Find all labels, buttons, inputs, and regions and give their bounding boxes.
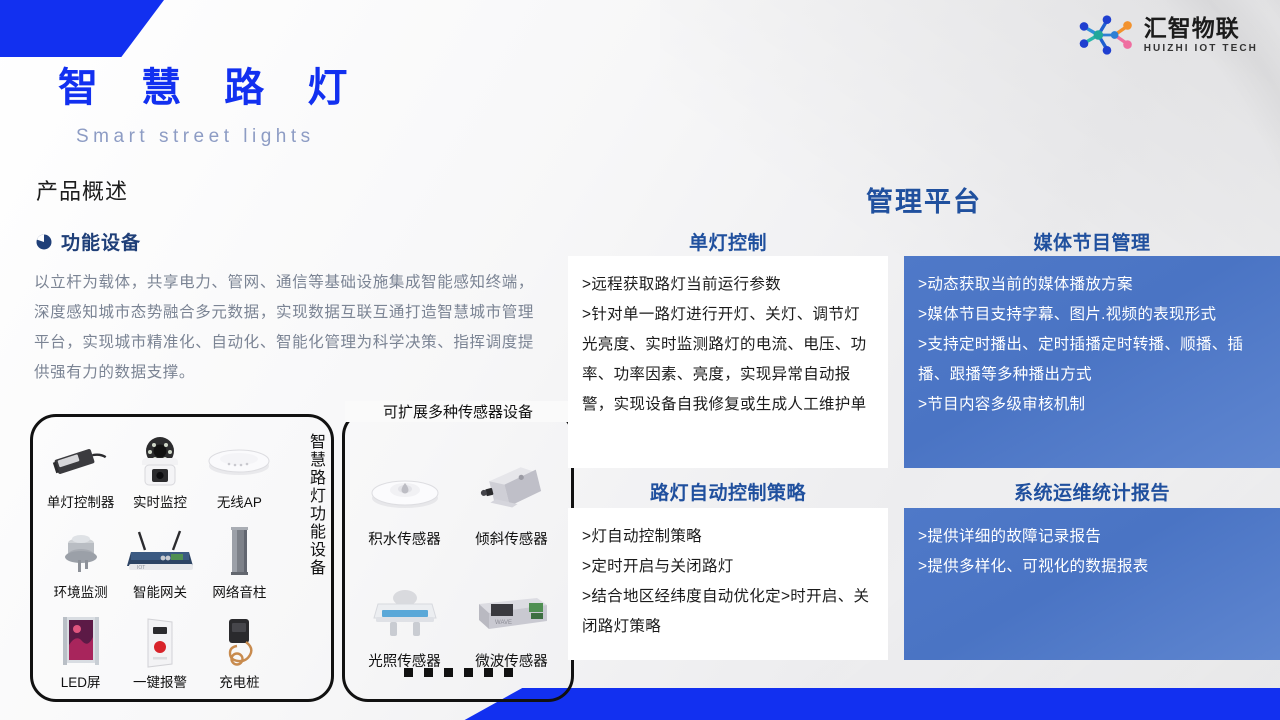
smart-gateway-icon: IOT [123, 525, 197, 579]
svg-text:IOT: IOT [137, 565, 145, 571]
device-label: 无线AP [217, 491, 262, 511]
card-title-auto-control-strategy: 路灯自动控制策略 [568, 478, 888, 505]
card-single-lamp-control[interactable]: >远程获取路灯当前运行参数 >针对单一路灯进行开灯、关灯、调节灯光亮度、实时监测… [568, 256, 888, 468]
water-level-sensor-icon [366, 454, 444, 526]
device-cell[interactable]: 单灯控制器 [41, 423, 120, 511]
card-line: >媒体节目支持字幕、图片.视频的表现形式 [918, 300, 1266, 330]
charging-pile-icon [218, 615, 260, 669]
page-title: 智 慧 路 灯 [58, 68, 363, 108]
section-title-overview: 产品概述 [36, 174, 128, 206]
device-label: 实时监控 [133, 491, 187, 511]
device-cell[interactable]: 充电桩 [200, 603, 279, 691]
device-cell[interactable]: 环境监测 [41, 513, 120, 601]
tilt-sensor-icon [472, 454, 552, 526]
marker-square [484, 668, 493, 677]
microwave-sensor-icon: WAVE [469, 576, 555, 648]
devices-box-vertical-label: 智慧路灯功能设备 [297, 433, 323, 577]
sensor-cell[interactable]: 积水传感器 [351, 431, 458, 549]
sensor-label: 积水传感器 [368, 528, 441, 549]
led-screen-icon [59, 615, 103, 669]
card-line: >提供多样化、可视化的数据报表 [918, 552, 1266, 582]
card-title-ops-statistics-report: 系统运维统计报告 [904, 478, 1280, 505]
device-label: 单灯控制器 [47, 491, 115, 511]
extensible-sensors-box: 可扩展多种传感器设备 积水传感器 [342, 410, 574, 702]
sub-heading-label: 功能设备 [61, 228, 141, 255]
card-line: >定时开启与关闭路灯 [582, 552, 874, 582]
device-label: 网络音柱 [212, 581, 266, 601]
pie-dot-icon [36, 234, 52, 250]
card-title-single-lamp-control: 单灯控制 [568, 228, 888, 255]
light-sensor-icon [364, 576, 446, 648]
brand-logo: 汇智物联 HUIZHI IOT TECH [1077, 13, 1258, 57]
card-media-program-management[interactable]: >动态获取当前的媒体播放方案 >媒体节目支持字幕、图片.视频的表现形式 >支持定… [904, 256, 1280, 468]
device-label: 一键报警 [133, 671, 187, 691]
device-label: 环境监测 [54, 581, 108, 601]
sensors-box-header: 可扩展多种传感器设备 [345, 401, 571, 422]
device-label: LED屏 [61, 671, 101, 691]
sensor-cell[interactable]: WAVE 微波传感器 [458, 553, 565, 671]
device-cell[interactable]: 网络音柱 [200, 513, 279, 601]
slide-canvas: 汇智物联 HUIZHI IOT TECH 智 慧 路 灯 Smart stree… [0, 0, 1280, 720]
device-cell[interactable]: 实时监控 [120, 423, 199, 511]
device-cell[interactable]: LED屏 [41, 603, 120, 691]
card-auto-control-strategy[interactable]: >灯自动控制策略 >定时开启与关闭路灯 >结合地区经纬度自动优化定>时开启、关闭… [568, 508, 888, 660]
marker-square [404, 668, 413, 677]
page-subtitle: Smart street lights [76, 126, 315, 148]
marker-square [444, 668, 453, 677]
card-line: >结合地区经纬度自动优化定>时开启、关闭路灯策略 [582, 582, 874, 642]
card-line: >支持定时播出、定时插播定时转播、顺播、插播、跟播等多种播出方式 [918, 330, 1266, 390]
power-supply-icon [50, 435, 112, 489]
card-line: >动态获取当前的媒体播放方案 [918, 270, 1266, 300]
sensor-cell[interactable]: 倾斜传感器 [458, 431, 565, 549]
svg-text:WAVE: WAVE [495, 620, 512, 626]
card-line: >远程获取路灯当前运行参数 [582, 270, 874, 300]
card-line: >节目内容多级审核机制 [918, 390, 1266, 420]
sensor-grid: 积水传感器 [351, 431, 565, 671]
sensor-label: 倾斜传感器 [475, 528, 548, 549]
emergency-call-icon [140, 615, 180, 669]
wireless-ap-icon [206, 435, 272, 489]
environment-sensor-icon [56, 525, 106, 579]
molecule-network-icon [1077, 13, 1135, 57]
device-cell[interactable]: IOT 智能网关 [120, 513, 199, 601]
logo-title-en: HUIZHI IOT TECH [1144, 44, 1258, 54]
marker-square [504, 668, 513, 677]
more-sensors-marker [345, 668, 571, 677]
platform-title: 管理平台 [568, 180, 1280, 219]
marker-square [424, 668, 433, 677]
device-label: 智能网关 [133, 581, 187, 601]
network-speaker-icon [224, 525, 254, 579]
sub-heading-functional-devices: 功能设备 [36, 228, 141, 255]
card-line: >灯自动控制策略 [582, 522, 874, 552]
device-grid: 单灯控制器 实时监控 [41, 423, 279, 691]
functional-devices-box: 单灯控制器 实时监控 [30, 414, 334, 702]
logo-title-zh: 汇智物联 [1144, 17, 1258, 40]
sensor-cell[interactable]: 光照传感器 [351, 553, 458, 671]
device-cell[interactable]: 无线AP [200, 423, 279, 511]
card-line: >针对单一路灯进行开灯、关灯、调节灯光亮度、实时监测路灯的电流、电压、功率、功率… [582, 300, 874, 420]
card-line: >提供详细的故障记录报告 [918, 522, 1266, 552]
device-cell[interactable]: 一键报警 [120, 603, 199, 691]
marker-square [464, 668, 473, 677]
overview-body-text: 以立杆为载体，共享电力、管网、通信等基础设施集成智能感知终端，深度感知城市态势融… [34, 268, 534, 388]
ptz-camera-icon [137, 435, 183, 489]
device-label: 充电桩 [219, 671, 260, 691]
card-ops-statistics-report[interactable]: >提供详细的故障记录报告 >提供多样化、可视化的数据报表 [904, 508, 1280, 660]
card-title-media-program-management: 媒体节目管理 [904, 228, 1280, 255]
